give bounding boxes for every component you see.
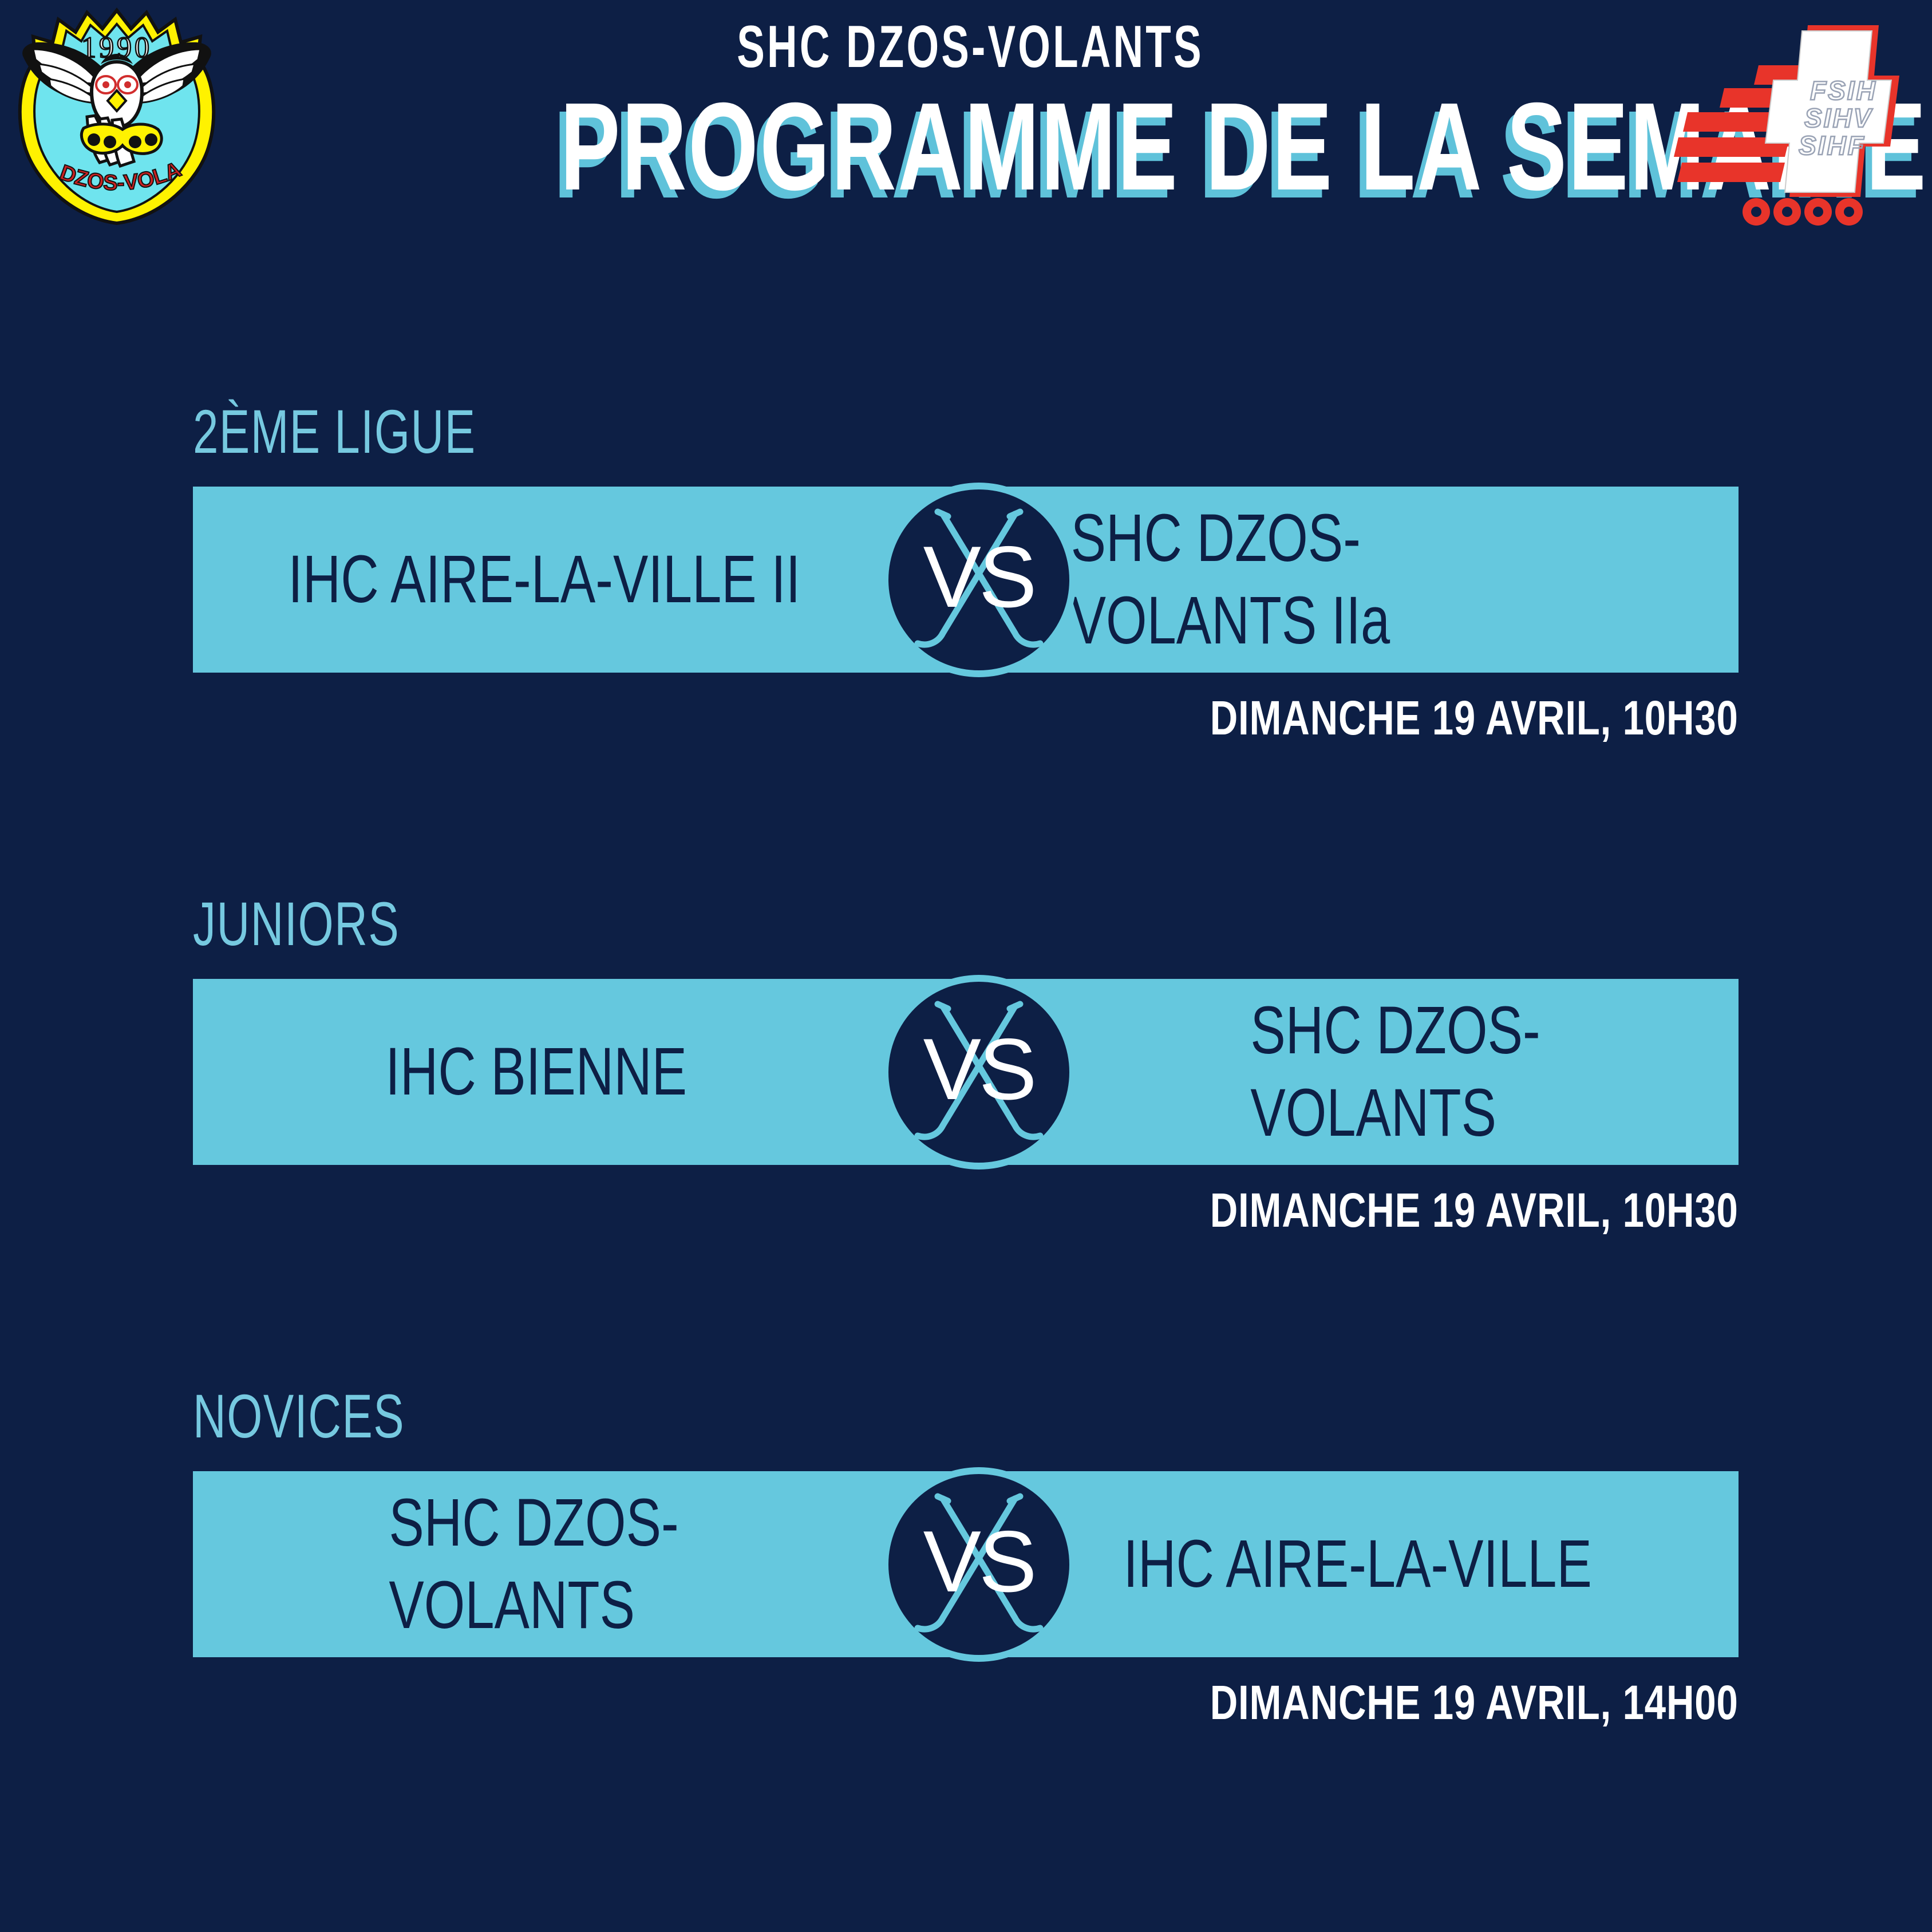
club-crest-logo: 1990 SHC DZOS-VOLANTS [14,5,220,228]
vs-badge-0: VS [879,480,1079,680]
federation-line-1: FSIH [1810,76,1877,105]
federation-line-2: SIHV [1804,103,1873,133]
match-date-2: DIMANCHE 19 AVRIL, 14H00 [1210,1678,1739,1726]
vs-text: VS [923,1513,1035,1610]
match-category-2: NOVICES [193,1385,405,1447]
home-team-2: SHC DZOS- VOLANTS [193,1482,960,1647]
crest-year: 1990 [81,31,152,64]
vs-badge-2: VS [879,1464,1079,1665]
header-text-group: SHC DZOS-VOLANTS PROGRAMME DE LA SEMAINE [401,17,1540,210]
club-name-heading: SHC DZOS-VOLANTS [572,17,1369,77]
vs-badge-1: VS [879,972,1079,1172]
away-team-1: SHC DZOS- VOLANTS [966,990,1739,1155]
federation-logo: FSIH SIHV SIHF [1654,8,1901,237]
match-category-0: 2ÈME LIGUE [193,401,476,463]
match-date-0: DIMANCHE 19 AVRIL, 10H30 [1210,694,1739,742]
vs-text: VS [923,1021,1035,1118]
page-title: PROGRAMME DE LA SEMAINE [560,85,1381,210]
home-team-0: IHC AIRE-LA-VILLE II [193,539,929,621]
poster-canvas: 1990 SHC DZOS-VOLANTS SHC DZOS-VOLANTS P… [0,0,1932,1932]
home-team-1: IHC BIENNE [193,1031,966,1113]
match-date-1: DIMANCHE 19 AVRIL, 10H30 [1210,1186,1739,1234]
match-category-1: JUNIORS [193,893,400,955]
vs-text: VS [923,528,1035,626]
federation-line-3: SIHF [1799,131,1866,160]
